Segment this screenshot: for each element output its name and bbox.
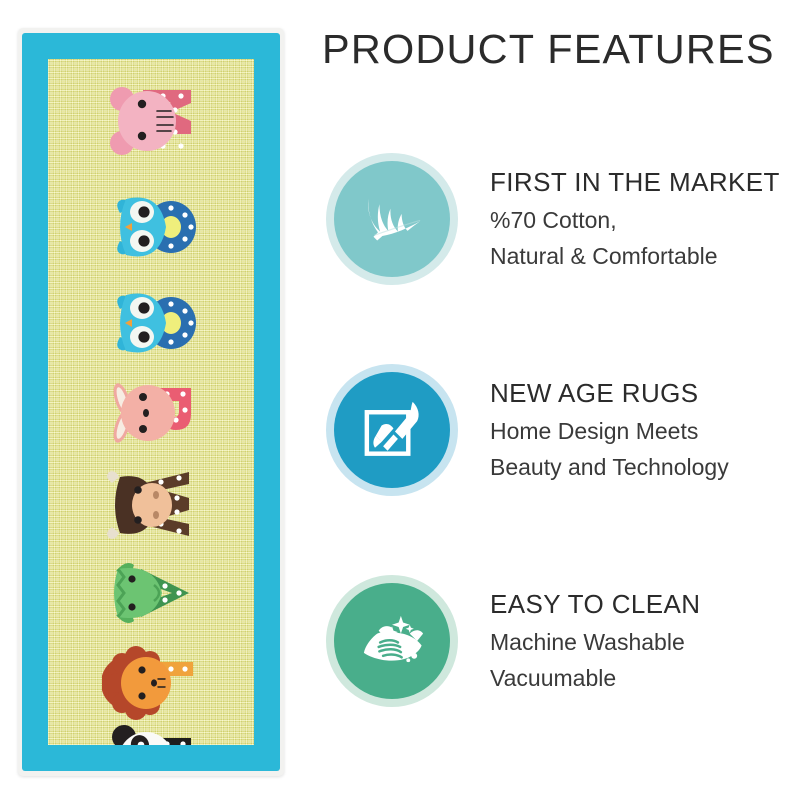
feature-line-2-0: Home Design Meets bbox=[490, 413, 800, 449]
icon-disc-3 bbox=[334, 583, 450, 699]
rug-motif-mouse bbox=[100, 73, 218, 169]
feature-lines-2: Home Design Meets Beauty and Technology bbox=[490, 413, 800, 485]
icon-disc-1 bbox=[334, 161, 450, 277]
page-title: PRODUCT FEATURES bbox=[322, 26, 775, 73]
feature-icon-badge-1 bbox=[317, 144, 467, 294]
feature-heading-2: NEW AGE RUGS bbox=[490, 378, 800, 408]
feature-line-1-1: Natural & Comfortable bbox=[490, 238, 800, 274]
rug-field bbox=[48, 59, 254, 745]
feature-lines-3: Machine Washable Vacuumable bbox=[490, 624, 800, 696]
rug-motif-cow bbox=[98, 457, 216, 553]
feature-icon-badge-2 bbox=[317, 355, 467, 505]
feature-text-2: NEW AGE RUGS Home Design Meets Beauty an… bbox=[490, 376, 800, 485]
feature-line-1-0: %70 Cotton, bbox=[490, 202, 800, 238]
feature-lines-1: %70 Cotton, Natural & Comfortable bbox=[490, 202, 800, 274]
feature-text-1: FIRST IN THE MARKET %70 Cotton, Natural … bbox=[490, 165, 800, 274]
feature-row-easy-to-clean: EASY TO CLEAN Machine Washable Vacuumabl… bbox=[300, 566, 800, 716]
rug-motif-owl-2 bbox=[104, 275, 222, 371]
feature-line-3-0: Machine Washable bbox=[490, 624, 800, 660]
feature-heading-1: FIRST IN THE MARKET bbox=[490, 167, 800, 197]
rug-photo bbox=[18, 28, 284, 776]
rug-motif-rabbit bbox=[100, 365, 218, 461]
feature-row-new-age-rugs: NEW AGE RUGS Home Design Meets Beauty an… bbox=[300, 355, 800, 505]
feather-icon bbox=[355, 182, 429, 256]
rug-motif-crocodile bbox=[98, 545, 216, 641]
feature-row-first-in-the-market: FIRST IN THE MARKET %70 Cotton, Natural … bbox=[300, 144, 800, 294]
icon-disc-2 bbox=[334, 372, 450, 488]
design-tools-icon bbox=[355, 393, 429, 467]
feature-icon-badge-3 bbox=[317, 566, 467, 716]
rug-border bbox=[22, 33, 280, 771]
product-features-infographic: PRODUCT FEATURES FIRST IN THE MARKET bbox=[0, 0, 800, 800]
rug-motif-owl-1 bbox=[104, 179, 222, 275]
rug-motif-panda bbox=[100, 713, 218, 745]
lion-head bbox=[102, 646, 171, 720]
feature-heading-3: EASY TO CLEAN bbox=[490, 589, 800, 619]
panda-head bbox=[112, 725, 174, 745]
hand-wiping-cloth-icon bbox=[355, 604, 429, 678]
feature-line-3-1: Vacuumable bbox=[490, 660, 800, 696]
crocodile-head bbox=[114, 563, 162, 623]
feature-line-2-1: Beauty and Technology bbox=[490, 449, 800, 485]
product-image bbox=[18, 28, 284, 776]
rug-motifs bbox=[48, 59, 254, 745]
features-column: PRODUCT FEATURES FIRST IN THE MARKET bbox=[300, 0, 800, 800]
feature-text-3: EASY TO CLEAN Machine Washable Vacuumabl… bbox=[490, 587, 800, 696]
